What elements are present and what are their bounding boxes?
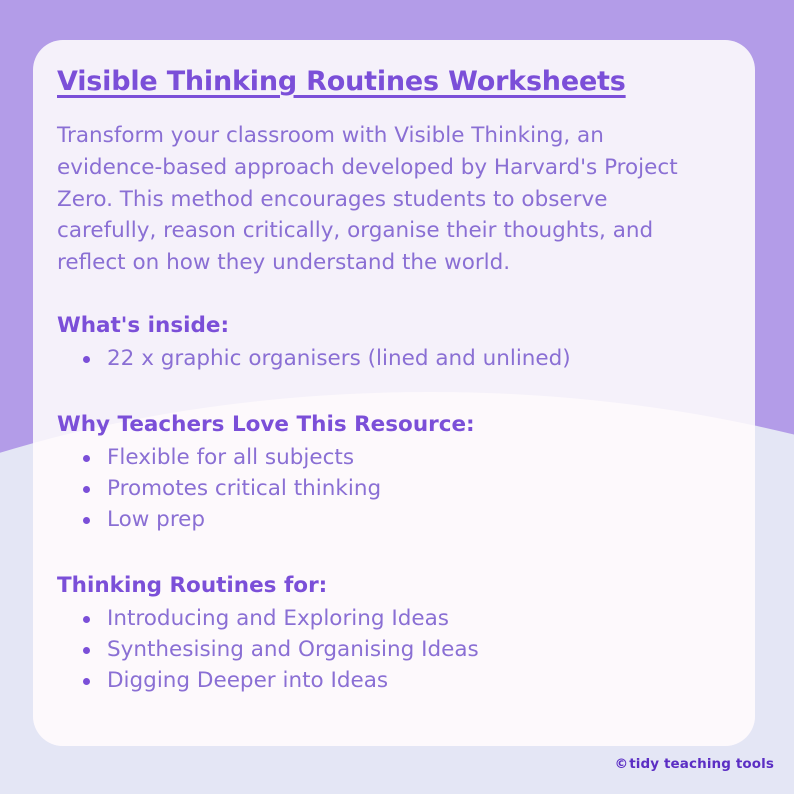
bullet-dot-icon	[83, 616, 90, 623]
list-item-label: Introducing and Exploring Ideas	[107, 606, 449, 631]
list-item: Introducing and Exploring Ideas	[83, 603, 715, 634]
list-item: Flexible for all subjects	[83, 442, 715, 473]
section-heading-why-teachers-love: Why Teachers Love This Resource:	[57, 411, 715, 439]
bullet-dot-icon	[83, 455, 90, 462]
content-card: Visible Thinking Routines Worksheets Tra…	[33, 40, 755, 746]
list-item: Low prep	[83, 504, 715, 535]
section-spacer	[57, 562, 715, 572]
copyright-icon: ©	[615, 756, 629, 772]
list-item: Promotes critical thinking	[83, 473, 715, 504]
list-item-label: Digging Deeper into Ideas	[107, 668, 388, 693]
list-item: Digging Deeper into Ideas	[83, 665, 715, 696]
brand-name: tidy teaching tools	[629, 756, 774, 772]
list-item-label: Flexible for all subjects	[107, 445, 354, 470]
bullet-list-why-teachers-love: Flexible for all subjects Promotes criti…	[57, 442, 715, 536]
card-content: Visible Thinking Routines Worksheets Tra…	[33, 40, 755, 746]
list-item: 22 x graphic organisers (lined and unlin…	[83, 343, 715, 374]
bullet-dot-icon	[83, 647, 90, 654]
bullet-dot-icon	[83, 356, 90, 363]
section-thinking-routines: Thinking Routines for: Introducing and E…	[57, 572, 715, 697]
poster-canvas: Visible Thinking Routines Worksheets Tra…	[0, 0, 794, 794]
bullet-list-thinking-routines: Introducing and Exploring Ideas Synthesi…	[57, 603, 715, 697]
section-heading-thinking-routines: Thinking Routines for:	[57, 572, 715, 600]
section-why-teachers-love: Why Teachers Love This Resource: Flexibl…	[57, 411, 715, 536]
section-heading-whats-inside: What's inside:	[57, 312, 715, 340]
bullet-list-whats-inside: 22 x graphic organisers (lined and unlin…	[57, 343, 715, 374]
section-whats-inside: What's inside: 22 x graphic organisers (…	[57, 312, 715, 374]
list-item-label: Promotes critical thinking	[107, 476, 381, 501]
section-spacer	[57, 401, 715, 411]
bullet-dot-icon	[83, 486, 90, 493]
list-item: Synthesising and Organising Ideas	[83, 634, 715, 665]
footer-brand: ©tidy teaching tools	[615, 756, 774, 772]
list-item-label: 22 x graphic organisers (lined and unlin…	[107, 346, 571, 371]
list-item-label: Low prep	[107, 507, 205, 532]
intro-paragraph: Transform your classroom with Visible Th…	[57, 120, 682, 278]
bullet-dot-icon	[83, 678, 90, 685]
list-item-label: Synthesising and Organising Ideas	[107, 637, 479, 662]
page-title: Visible Thinking Routines Worksheets	[57, 66, 715, 98]
bullet-dot-icon	[83, 517, 90, 524]
